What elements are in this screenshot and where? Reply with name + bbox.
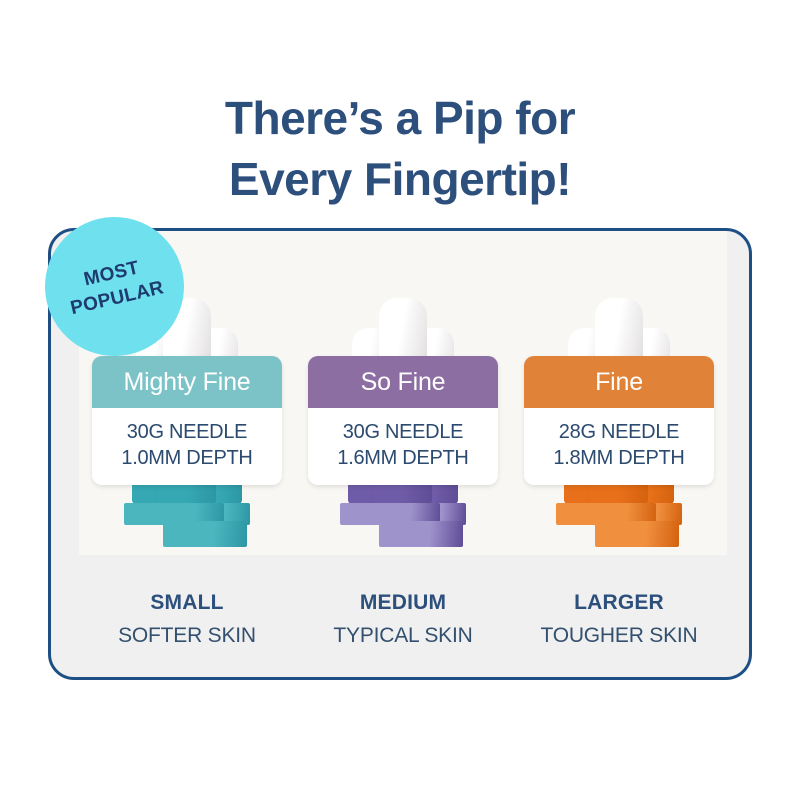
product-spec: 30G NEEDLE 1.6MM DEPTH (308, 408, 498, 485)
page-title-line-1: There’s a Pip for (0, 88, 800, 149)
skin-label: TYPICAL SKIN (295, 624, 511, 648)
product-name: Fine (595, 370, 643, 395)
product-name: Mighty Fine (123, 370, 250, 395)
product-label-card[interactable]: Fine 28G NEEDLE 1.8MM DEPTH (524, 356, 714, 485)
lancet-foot (163, 521, 247, 547)
product-spec: 28G NEEDLE 1.8MM DEPTH (524, 408, 714, 485)
needle-depth: 1.0MM DEPTH (92, 445, 282, 471)
lancet-foot (379, 521, 463, 547)
product-name-band: Mighty Fine (92, 356, 282, 408)
page-title-line-2: Every Fingertip! (0, 149, 800, 210)
product-label-card[interactable]: Mighty Fine 30G NEEDLE 1.0MM DEPTH (92, 356, 282, 485)
skin-label: SOFTER SKIN (79, 624, 295, 648)
product-label-card[interactable]: So Fine 30G NEEDLE 1.6MM DEPTH (308, 356, 498, 485)
page-title: There’s a Pip for Every Fingertip! (0, 88, 800, 209)
needle-depth: 1.8MM DEPTH (524, 445, 714, 471)
lancet-foot (595, 521, 679, 547)
product-spec: 30G NEEDLE 1.0MM DEPTH (92, 408, 282, 485)
skin-label: TOUGHER SKIN (511, 624, 727, 648)
needle-gauge: 30G NEEDLE (92, 419, 282, 445)
caption-medium: MEDIUM TYPICAL SKIN (295, 591, 511, 648)
product-name-band: So Fine (308, 356, 498, 408)
needle-gauge: 28G NEEDLE (524, 419, 714, 445)
needle-depth: 1.6MM DEPTH (308, 445, 498, 471)
caption-small: SMALL SOFTER SKIN (79, 591, 295, 648)
caption-larger: LARGER TOUGHER SKIN (511, 591, 727, 648)
product-card-so-fine[interactable]: So Fine 30G NEEDLE 1.6MM DEPTH (295, 231, 511, 555)
size-label: LARGER (511, 591, 727, 615)
product-name-band: Fine (524, 356, 714, 408)
size-label: MEDIUM (295, 591, 511, 615)
size-label: SMALL (79, 591, 295, 615)
product-name: So Fine (361, 370, 446, 395)
product-card-fine[interactable]: Fine 28G NEEDLE 1.8MM DEPTH (511, 231, 727, 555)
needle-gauge: 30G NEEDLE (308, 419, 498, 445)
